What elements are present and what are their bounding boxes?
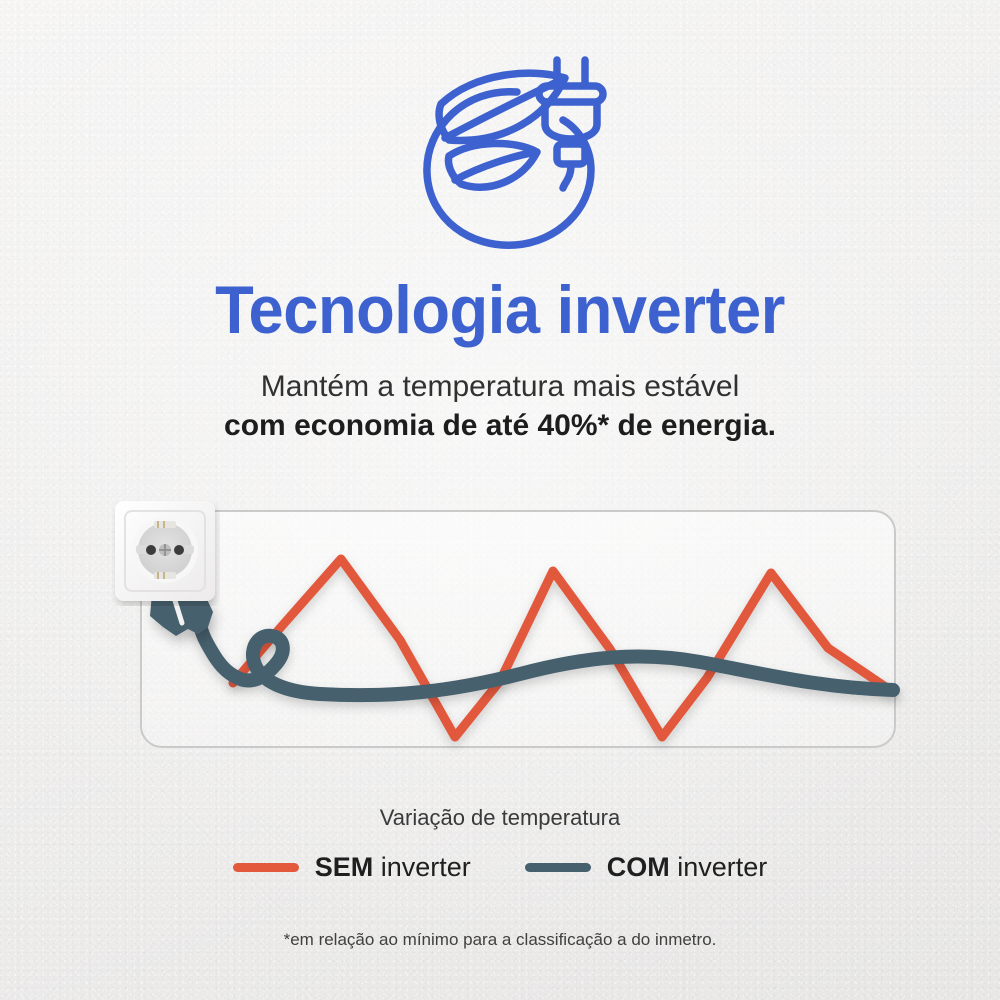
legend-caption: Variação de temperatura (0, 805, 1000, 831)
eco-plug-icon (405, 48, 615, 253)
legend-com-strong: COM (607, 852, 670, 882)
legend-label-sem: SEM inverter (315, 852, 471, 883)
subtitle-block: Mantém a temperatura mais estável com ec… (0, 368, 1000, 446)
legend-swatch-orange (233, 863, 299, 872)
legend-com-light: inverter (670, 852, 768, 882)
legend-sem-inverter: SEM inverter (233, 852, 471, 883)
page-title: Tecnologia inverter (35, 276, 965, 344)
legend-com-inverter: COM inverter (525, 852, 768, 883)
chart-panel (140, 510, 896, 748)
legend: SEM inverter COM inverter (0, 852, 1000, 883)
legend-sem-strong: SEM (315, 852, 374, 882)
footnote: *em relação ao mínimo para a classificaç… (0, 930, 1000, 950)
subtitle-line-1: Mantém a temperatura mais estável (0, 368, 1000, 406)
poster-canvas: Tecnologia inverter Mantém a temperatura… (0, 0, 1000, 1000)
legend-sem-light: inverter (373, 852, 471, 882)
wall-socket-icon (112, 498, 220, 606)
legend-label-com: COM inverter (607, 852, 768, 883)
subtitle-line-2: com economia de até 40%* de energia. (0, 406, 1000, 446)
legend-swatch-slate (525, 863, 591, 872)
